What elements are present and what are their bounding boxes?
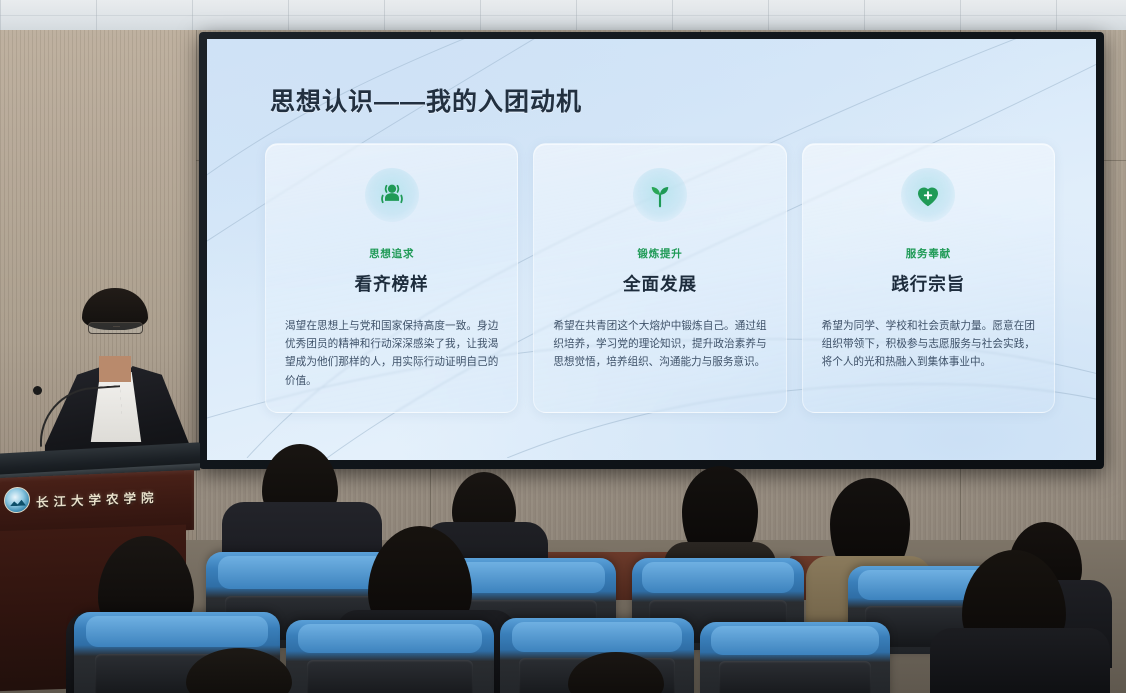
presentation-slide: 思想认识——我的入团动机 思想追求 — [207, 39, 1096, 460]
slide-card[interactable]: 服务奉献 践行宗旨 希望为同学、学校和社会贡献力量。愿意在团组织带领下，积极参与… — [802, 143, 1055, 413]
microphone-icon — [33, 386, 42, 395]
card-group: 思想追求 看齐榜样 渴望在思想上与党和国家保持高度一致。身边优秀团员的精神和行动… — [265, 143, 1055, 413]
heart-plus-icon — [901, 168, 955, 222]
card-heading: 看齐榜样 — [285, 271, 498, 296]
display-screen[interactable]: 思想认识——我的入团动机 思想追求 — [199, 32, 1104, 469]
seat[interactable] — [700, 622, 890, 693]
audience — [0, 430, 1126, 693]
slide-card[interactable]: 思想追求 看齐榜样 渴望在思想上与党和国家保持高度一致。身边优秀团员的精神和行动… — [265, 143, 518, 413]
seat[interactable] — [286, 620, 494, 693]
card-body: 希望为同学、学校和社会贡献力量。愿意在团组织带领下，积极参与志愿服务与社会实践，… — [822, 317, 1035, 372]
lecture-hall-photo: 思想认识——我的入团动机 思想追求 — [0, 0, 1126, 693]
card-kicker: 服务奉献 — [822, 246, 1035, 261]
sprout-icon — [633, 168, 687, 222]
card-heading: 全面发展 — [553, 271, 766, 296]
card-body: 希望在共青团这个大熔炉中锻炼自己。通过组织培养，学习党的理论知识，提升政治素养与… — [553, 317, 766, 372]
card-body: 渴望在思想上与党和国家保持高度一致。身边优秀团员的精神和行动深深感染了我，让我渴… — [285, 317, 498, 390]
card-kicker: 锻炼提升 — [553, 246, 766, 261]
eyeglasses-icon — [88, 322, 143, 334]
audience-member-body — [930, 628, 1110, 693]
slide-card[interactable]: 锻炼提升 全面发展 希望在共青团这个大熔炉中锻炼自己。通过组织培养，学习党的理论… — [533, 143, 786, 413]
card-kicker: 思想追求 — [285, 246, 498, 261]
card-heading: 践行宗旨 — [822, 271, 1035, 296]
people-icon — [365, 168, 419, 222]
slide-title: 思想认识——我的入团动机 — [270, 82, 582, 118]
